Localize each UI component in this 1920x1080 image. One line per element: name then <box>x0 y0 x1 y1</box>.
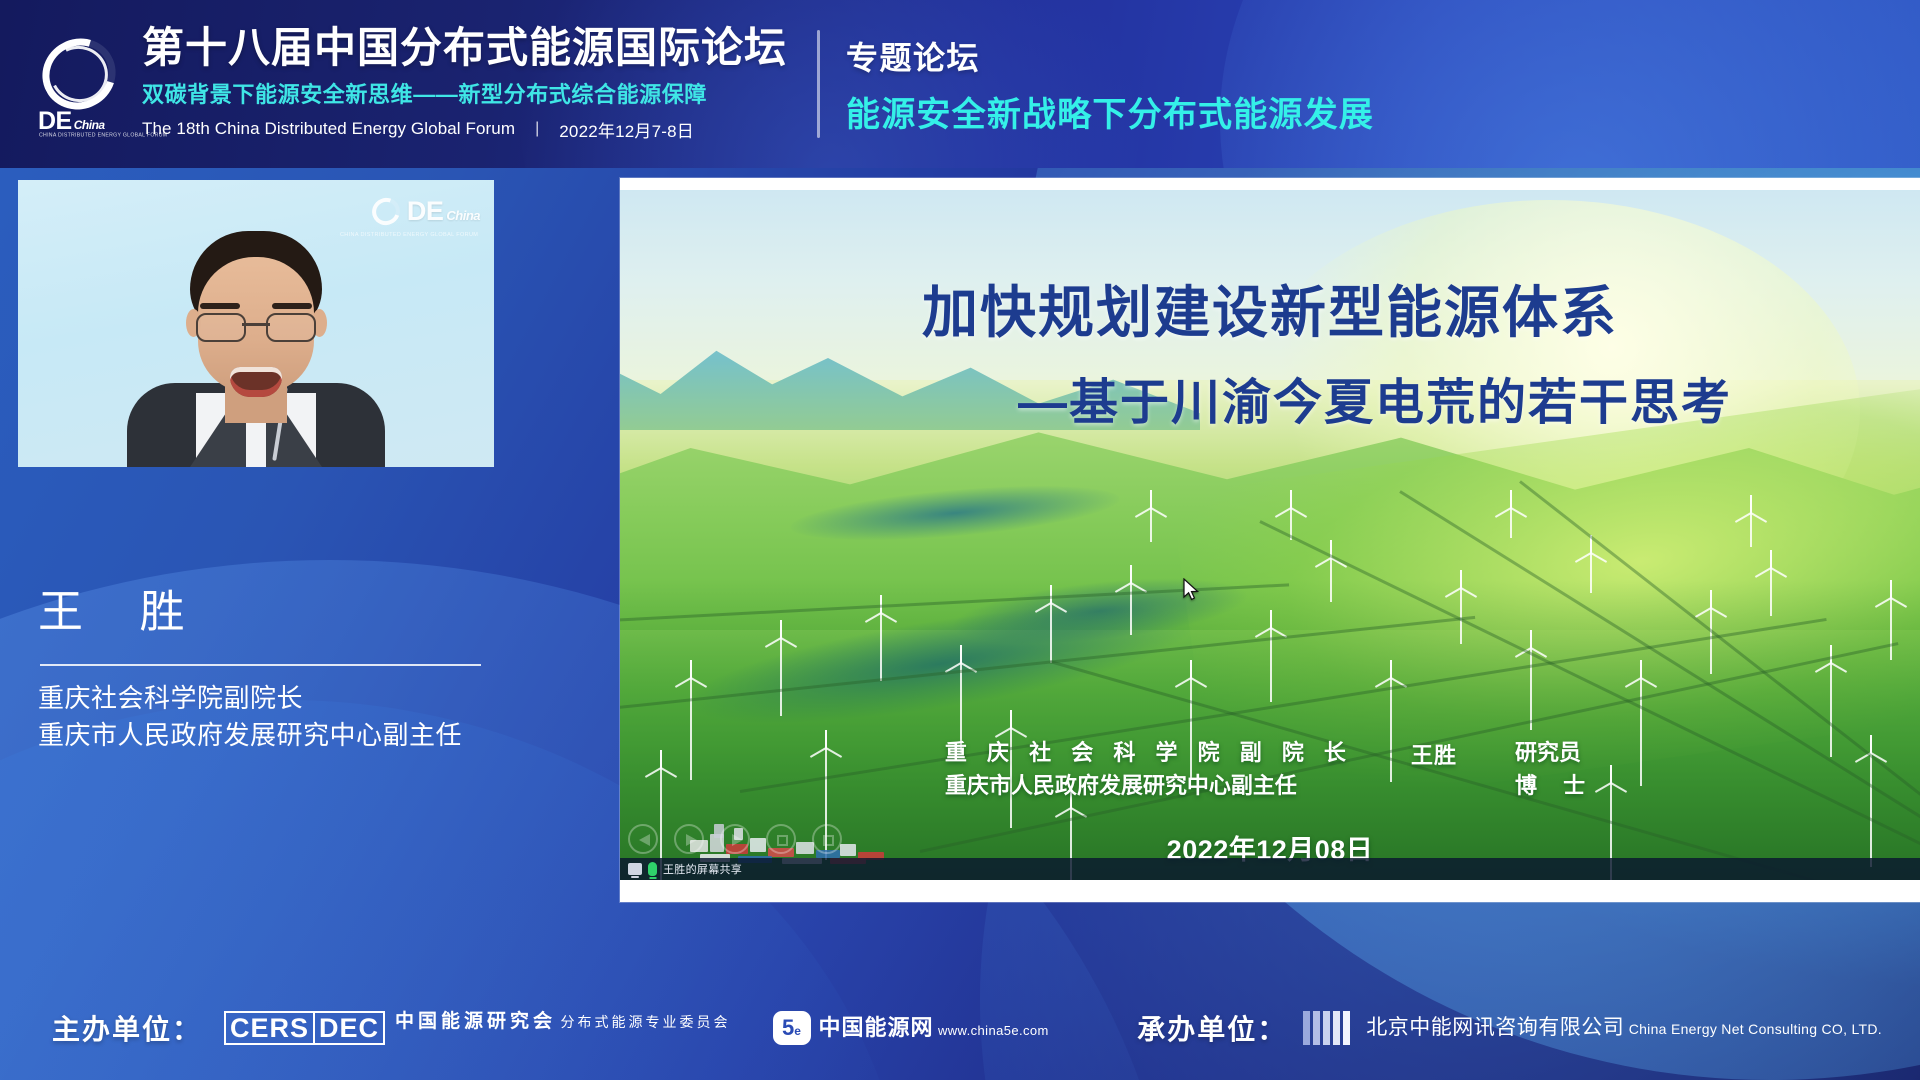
session-label: 专题论坛 <box>846 33 1374 79</box>
wind-turbine-icon <box>1260 610 1282 702</box>
cersdec-name-cn: 中国能源研究会 <box>395 1011 556 1032</box>
slide-heading-group: 加快规划建设新型能源体系 —基于川渝今夏电荒的若干思考 <box>620 268 1920 434</box>
sponsor-footer: 主办单位： CERS DEC 中国能源研究会 分布式能源专业委员会 5e 中国能… <box>0 950 1920 1080</box>
slide-credit-rank-line-1: 研究员 <box>1515 736 1595 769</box>
cenc-name-en: China Energy Net Consulting CO, LTD. <box>1629 1021 1882 1037</box>
slide-credit-rank-line-2: 博 士 <box>1515 769 1595 802</box>
slide-credit-affiliation-line-2: 重庆市人民政府发展研究中心副主任 <box>945 769 1353 802</box>
forward-button <box>720 824 750 854</box>
watermark-ring-icon <box>367 193 404 229</box>
organizer-label: 承办单位： <box>1137 1008 1287 1048</box>
broadcast-stage: DEChina CHINA DISTRIBUTED ENERGY GLOBAL … <box>0 0 1920 1080</box>
presentation-slide: 加快规划建设新型能源体系 —基于川渝今夏电荒的若干思考 重 庆 社 会 科 学 … <box>620 190 1920 880</box>
wind-turbine-icon <box>1120 565 1142 635</box>
rewind-icon <box>639 834 650 846</box>
china5e-badge-icon: 5e <box>773 1011 811 1045</box>
video-watermark: DEChina CHINA DISTRIBUTED ENERGY GLOBAL … <box>372 198 480 225</box>
wind-turbine-icon <box>1740 495 1762 547</box>
wind-turbine-icon <box>1320 540 1342 602</box>
speaker-video-tile[interactable]: DEChina CHINA DISTRIBUTED ENERGY GLOBAL … <box>18 180 494 467</box>
header-vertical-divider <box>817 30 820 138</box>
event-title: 第十八届中国分布式能源国际论坛 <box>142 26 787 70</box>
speaker-glasses-icon <box>196 313 316 339</box>
fullscreen-button <box>812 824 842 854</box>
watermark-china-text: China <box>446 208 480 223</box>
cersdec-mark-part2: DEC <box>315 1011 385 1045</box>
event-date: 2022年12月7-8日 <box>559 117 694 142</box>
cersdec-name-block: 中国能源研究会 分布式能源专业委员会 <box>395 1011 730 1045</box>
slide-credit-name: 王胜 <box>1411 736 1457 770</box>
speaker-glasses-bridge <box>242 323 270 326</box>
header-main-texts: 第十八届中国分布式能源国际论坛 双碳背景下能源安全新思维——新型分布式综合能源保… <box>142 26 787 141</box>
speaker-info-block: 王 胜 重庆社会科学院副院长 重庆市人民政府发展研究中心副主任 <box>38 575 508 754</box>
de-china-logo: DEChina CHINA DISTRIBUTED ENERGY GLOBAL … <box>34 31 128 143</box>
cenc-text-block: 北京中能网讯咨询有限公司 China Energy Net Consulting… <box>1366 1015 1882 1040</box>
meta-separator: | <box>535 120 539 138</box>
logo-de-text: DE <box>38 107 72 135</box>
watermark-wordmark: DEChina <box>407 198 480 225</box>
slide-credit-affiliation: 重 庆 社 会 科 学 院 副 院 长 重庆市人民政府发展研究中心副主任 <box>945 736 1353 802</box>
logo-wordmark: DEChina <box>38 109 105 134</box>
media-player-controls-overlay[interactable] <box>628 824 842 854</box>
watermark-tagline: CHINA DISTRIBUTED ENERGY GLOBAL FORUM <box>340 231 478 237</box>
forward-icon <box>732 834 743 846</box>
event-english-title: The 18th China Distributed Energy Global… <box>142 119 515 139</box>
slide-subtitle: —基于川渝今夏电荒的若干思考 <box>620 363 1920 434</box>
speaker-divider <box>40 664 481 666</box>
speaker-eyebrow-left <box>200 303 240 309</box>
header-session-block: 专题论坛 能源安全新战略下分布式能源发展 <box>846 33 1374 136</box>
slide-credit-rank: 研究员 博 士 <box>1515 736 1595 802</box>
china5e-url: www.china5e.com <box>938 1023 1049 1038</box>
host-label: 主办单位： <box>52 1008 202 1048</box>
speaker-name: 王 胜 <box>38 575 508 640</box>
speaker-webcam-image <box>126 217 386 467</box>
cersdec-logo: CERS DEC 中国能源研究会 分布式能源专业委员会 <box>224 1011 731 1045</box>
logo-tagline: CHINA DISTRIBUTED ENERGY GLOBAL FORUM <box>39 132 167 138</box>
host-group: 主办单位： CERS DEC 中国能源研究会 分布式能源专业委员会 5e 中国能… <box>52 1008 1049 1048</box>
wind-turbine-icon <box>1520 630 1542 730</box>
logo-china-text: China <box>74 118 105 132</box>
china5e-logo: 5e 中国能源网 www.china5e.com <box>773 1011 1049 1045</box>
speaker-eyebrow-right <box>272 303 312 309</box>
cersdec-mark-part1: CERS <box>224 1011 315 1045</box>
china5e-badge-digit: 5 <box>782 1015 794 1040</box>
wind-turbine-icon <box>1140 490 1162 542</box>
stop-button <box>766 824 796 854</box>
play-button <box>674 824 704 854</box>
screen-share-icon <box>628 863 642 875</box>
slide-title: 加快规划建设新型能源体系 <box>620 268 1920 349</box>
microphone-icon <box>648 862 657 876</box>
organizer-group: 承办单位： 北京中能网讯咨询有限公司 China Energy Net Cons… <box>1137 1008 1882 1048</box>
china5e-badge-sub: e <box>794 1024 801 1038</box>
speaker-mouth <box>230 367 282 397</box>
rewind-button <box>628 824 658 854</box>
wind-turbine-icon <box>1760 550 1782 616</box>
cenc-bars-icon <box>1303 1011 1350 1045</box>
china5e-text-block: 中国能源网 www.china5e.com <box>819 1015 1049 1040</box>
speaker-title-line-2: 重庆市人民政府发展研究中心副主任 <box>38 717 508 754</box>
cenc-name-cn: 北京中能网讯咨询有限公司 <box>1366 1016 1624 1039</box>
screen-share-status-bar: 王胜的屏幕共享 <box>620 858 1920 880</box>
slide-credit-affiliation-line-1: 重 庆 社 会 科 学 院 副 院 长 <box>945 736 1353 769</box>
watermark-de-text: DE <box>407 196 444 226</box>
play-icon <box>686 834 697 846</box>
event-meta-row: The 18th China Distributed Energy Global… <box>142 117 787 142</box>
stop-icon <box>777 835 788 846</box>
speaker-title-line-1: 重庆社会科学院副院长 <box>38 680 508 717</box>
screen-share-frame[interactable]: 加快规划建设新型能源体系 —基于川渝今夏电荒的若干思考 重 庆 社 会 科 学 … <box>620 178 1920 902</box>
fullscreen-icon <box>823 835 834 846</box>
wind-turbine-icon <box>1450 570 1472 644</box>
wind-turbine-icon <box>770 620 792 716</box>
screen-share-label: 王胜的屏幕共享 <box>663 861 742 877</box>
wind-turbine-icon <box>1500 490 1522 538</box>
event-subtitle: 双碳背景下能源安全新思维——新型分布式综合能源保障 <box>142 77 787 109</box>
cersdec-name-sub: 分布式能源专业委员会 <box>561 1014 731 1030</box>
session-topic: 能源安全新战略下分布式能源发展 <box>846 87 1374 136</box>
slide-credit-group: 重 庆 社 会 科 学 院 副 院 长 重庆市人民政府发展研究中心副主任 王胜 … <box>620 736 1920 802</box>
china5e-name-cn: 中国能源网 <box>819 1015 934 1040</box>
event-header-banner: DEChina CHINA DISTRIBUTED ENERGY GLOBAL … <box>0 0 1920 168</box>
